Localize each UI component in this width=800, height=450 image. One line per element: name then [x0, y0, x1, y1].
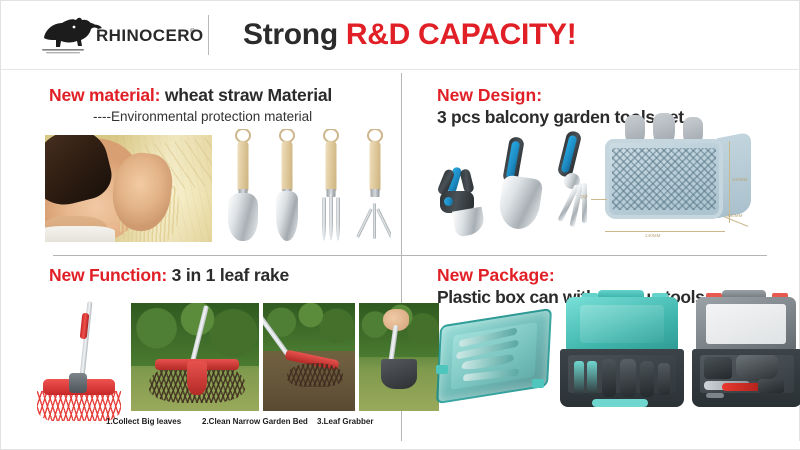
new-design-label-red: New Design: — [437, 85, 800, 106]
rhinoceros-icon: RHINOCEROS ® — [34, 12, 204, 58]
new-material-label-red: New material: — [49, 85, 160, 105]
straw-handle — [282, 141, 293, 191]
tool-trowel — [736, 355, 778, 381]
caption-clean-narrow-garden-bed: 2.Clean Narrow Garden Bed — [202, 417, 308, 426]
trowel-blade — [497, 174, 544, 231]
dim-guide-width — [605, 231, 725, 232]
material-leader-line — [591, 199, 607, 200]
tool-cutter — [658, 363, 670, 395]
use-photo-collect-leaves — [131, 303, 259, 411]
basket-front-panel — [605, 139, 723, 219]
new-material-heading: New material: wheat straw Material — [49, 85, 401, 106]
toolbox-teal-translucent — [434, 303, 554, 409]
basket-perforation-pattern — [612, 148, 716, 210]
tool-screwdriver-1 — [574, 361, 584, 395]
tool-wheat-straw-fork — [311, 131, 351, 243]
ferrule — [371, 189, 380, 197]
tool-blue-pruner — [432, 167, 494, 241]
page-title: Strong R&D CAPACITY! — [243, 18, 576, 52]
case-lid — [696, 297, 796, 351]
tool-pruner — [704, 357, 732, 379]
new-function-label-dark: 3 in 1 leaf rake — [172, 265, 289, 285]
straw-handle — [370, 141, 381, 191]
tool-plier-3 — [640, 361, 654, 397]
leaf-rake-product-shot — [37, 301, 123, 421]
case-lid — [566, 297, 678, 351]
panel-new-design: New Design: 3 pcs balcony garden tools s… — [402, 73, 800, 255]
tool-hammer — [758, 379, 784, 393]
header-divider — [208, 15, 209, 55]
tool-blue-trowel — [494, 135, 550, 243]
registered-mark: ® — [190, 27, 195, 35]
case-base — [692, 349, 800, 407]
new-function-label-red: New Function: — [49, 265, 167, 285]
new-material-subtitle: ----Environmental protection material — [93, 109, 401, 124]
title-plain: Strong — [243, 18, 338, 51]
straw-handle — [238, 141, 249, 191]
caption-collect-big-leaves: 1.Collect Big leaves — [106, 417, 181, 426]
brand-logo: RHINOCEROS ® — [34, 11, 204, 59]
material-label: PP — [581, 195, 588, 201]
new-package-label-red: New Package: — [437, 265, 800, 286]
dim-label-depth: 100MM — [727, 213, 743, 218]
woman-shirt — [45, 226, 115, 242]
logo-wordmark: RHINOCEROS — [96, 26, 204, 45]
new-function-heading: New Function: 3 in 1 leaf rake — [49, 265, 401, 286]
straw-handle — [326, 141, 337, 191]
tool-screwdriver-2 — [587, 361, 597, 395]
toolbox-gray-red-open — [692, 297, 800, 409]
rake-hub — [69, 373, 87, 393]
pruner-pivot — [444, 197, 453, 206]
storage-basket-diagram: 240MM 240MM 100MM PP — [577, 109, 792, 249]
latch-right — [532, 379, 544, 388]
tool-plier-1 — [602, 359, 616, 397]
rake-hub — [187, 361, 207, 395]
slide-root: RHINOCEROS ® Strong R&D CAPACITY! New ma… — [0, 0, 800, 450]
tool-wheat-straw-cultivator — [355, 131, 391, 243]
trowel-blade — [228, 193, 258, 241]
panel-new-function: New Function: 3 in 1 leaf rake — [1, 257, 401, 443]
leaf-debris — [287, 363, 343, 387]
use-photo-clean-garden-bed — [263, 303, 355, 411]
dim-guide-height — [729, 141, 730, 223]
case-tray — [700, 355, 794, 393]
case-tray — [568, 355, 676, 393]
horizontal-divider — [53, 255, 767, 256]
wheat-straw-photo — [45, 135, 212, 242]
title-accent: R&D CAPACITY! — [346, 18, 577, 51]
lid-inner-panel — [706, 304, 786, 344]
pruner-blade — [452, 207, 486, 238]
case-base — [560, 349, 684, 407]
wheat-straw-tool-row — [219, 129, 391, 245]
dim-label-height: 240MM — [732, 177, 748, 182]
tool-plier-2 — [620, 359, 636, 397]
dim-label-width: 240MM — [645, 233, 661, 238]
slide-header: RHINOCEROS ® Strong R&D CAPACITY! — [1, 1, 800, 69]
footer-strip — [1, 441, 800, 449]
lid-emboss — [580, 305, 664, 343]
new-material-label-dark: wheat straw Material — [165, 85, 332, 105]
latch-left — [436, 365, 448, 374]
caption-leaf-grabber: 3.Leaf Grabber — [317, 417, 373, 426]
tray-handle-recess — [592, 399, 648, 407]
toolbox-teal-gray-open — [560, 297, 686, 409]
header-rule — [1, 69, 800, 70]
tool-bit-set — [706, 393, 724, 398]
tool-wheat-straw-trowel — [223, 131, 263, 243]
translucent-lid — [436, 308, 552, 404]
pruner-handle-right — [459, 168, 475, 194]
transplanter-blade — [276, 191, 298, 241]
panel-new-material: New material: wheat straw Material ----E… — [1, 73, 401, 255]
panel-new-package: New Package: Plastic box can with variou… — [402, 257, 800, 443]
tool-wheat-straw-transplanter — [267, 131, 307, 243]
